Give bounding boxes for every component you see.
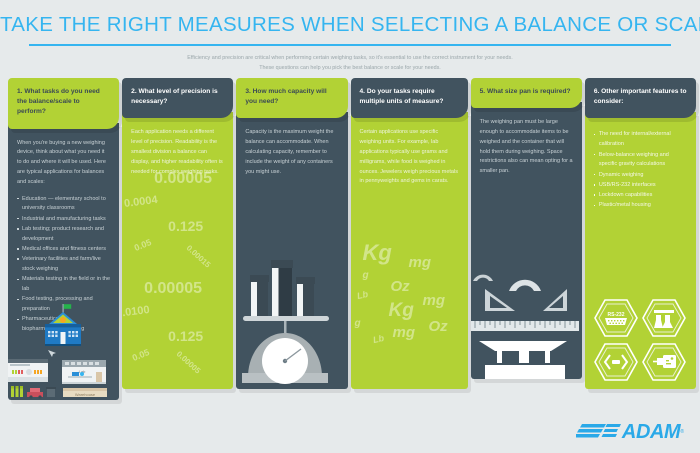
header: TAKE THE RIGHT MEASURES WHEN SELECTING A…	[0, 0, 700, 73]
faded-unit: mg	[409, 254, 432, 271]
faded-unit: Oz	[429, 318, 448, 335]
question-text-6: 6. Other important features to consider:	[594, 87, 687, 107]
column-paragraph-4: Certain applications use specific weighi…	[360, 128, 459, 187]
column-5: 5. What size pan is required? The weighi…	[471, 78, 582, 379]
column-4: 4. Do your tasks require multiple units …	[351, 78, 468, 389]
subtitle: Efficiency and precision are critical wh…	[90, 53, 610, 73]
column-body-4: Kg mg g Oz mg Lb Kg g mg Oz Lb Certain a…	[351, 112, 468, 389]
title-divider	[29, 44, 671, 46]
faded-unit: mg	[393, 324, 416, 341]
faded-number: 0.0004	[124, 194, 159, 210]
column-bullet-list-6: The need for internal/external calibrati…	[594, 130, 687, 211]
platform-scale-illustration	[236, 249, 347, 389]
ae-logo-mark	[576, 421, 622, 443]
question-box-2: 2. What level of precision is necessary?	[122, 78, 233, 118]
registered-trademark: ®	[680, 429, 684, 435]
column-body-5: The weighing pan must be large enough to…	[471, 102, 582, 379]
question-box-6: 6. Other important features to consider:	[585, 78, 696, 118]
rs-232-port-icon: RS-232	[594, 298, 638, 338]
question-box-3: 3. How much capacity will you need?	[236, 78, 347, 118]
question-text-3: 3. How much capacity will you need?	[245, 87, 338, 107]
subtitle-line-2: These questions can help you pick the be…	[90, 63, 610, 73]
page-title: TAKE THE RIGHT MEASURES WHEN SELECTING A…	[0, 13, 700, 37]
list-item: Industrial and manufacturing tasks	[17, 215, 110, 225]
column-paragraph-1: When you're buying a new weighing device…	[17, 139, 110, 188]
column-paragraph-5: The weighing pan must be large enough to…	[480, 118, 573, 177]
column-paragraph-2: Each application needs a different level…	[131, 128, 224, 177]
column-1: 1. What tasks do you need the balance/sc…	[8, 78, 119, 400]
column-body-2: 0.00005 0.0004 0.125 0.05 0.00015 0.0000…	[122, 112, 233, 389]
list-item: Dynamic weighing	[594, 171, 687, 181]
question-text-4: 4. Do your tasks require multiple units …	[360, 87, 459, 107]
rs-232-label: RS-232	[608, 312, 625, 318]
subtitle-line-1: Efficiency and precision are critical wh…	[90, 53, 610, 63]
column-2: 2. What level of precision is necessary?…	[122, 78, 233, 389]
column-body-3: Capacity is the maximum weight the balan…	[236, 112, 347, 389]
faded-unit: Lb	[372, 333, 385, 345]
list-item: USB/RS-232 interfaces	[594, 181, 687, 191]
column-6: 6. Other important features to consider:…	[585, 78, 696, 389]
faded-number: 0.05	[133, 238, 153, 254]
faded-unit: Kg	[363, 240, 392, 266]
list-item: The need for internal/external calibrati…	[594, 130, 687, 150]
faded-unit: g	[355, 318, 361, 329]
list-item: Lab testing; product research and develo…	[17, 225, 110, 245]
faded-number: 0.125	[168, 328, 203, 344]
feature-icons-group: RS-232	[592, 298, 689, 382]
brand-logo: ADAM ®	[576, 421, 684, 443]
faded-number: 0.00015	[185, 244, 213, 270]
faded-number: 0.00005	[144, 280, 202, 298]
column-body-1: When you're buying a new weighing device…	[8, 123, 119, 400]
measuring-tools-illustration	[471, 267, 582, 379]
below-balance-hook-icon	[594, 342, 638, 382]
lab-flasks-icon	[642, 298, 686, 338]
column-3: 3. How much capacity will you need? Capa…	[236, 78, 347, 389]
column-paragraph-3: Capacity is the maximum weight the balan…	[245, 128, 338, 177]
question-box-1: 1. What tasks do you need the balance/sc…	[8, 78, 119, 129]
faded-number: 0.125	[168, 218, 203, 234]
question-text-1: 1. What tasks do you need the balance/sc…	[17, 87, 110, 118]
list-item: Veterinary facilities and farm/live stoc…	[17, 255, 110, 275]
faded-unit: Kg	[389, 300, 414, 322]
list-item: Lockdown capabilities	[594, 191, 687, 201]
list-item: Plastic/metal housing	[594, 201, 687, 211]
list-item: Materials testing in the field or in the…	[17, 275, 110, 295]
question-box-4: 4. Do your tasks require multiple units …	[351, 78, 468, 118]
faded-unit: mg	[423, 292, 446, 309]
faded-number: 0.05	[131, 348, 151, 364]
columns-container: 1. What tasks do you need the balance/sc…	[8, 78, 696, 400]
faded-unit: Oz	[391, 278, 410, 295]
list-item: Below-balance weighing and specific grav…	[594, 151, 687, 171]
question-text-5: 5. What size pan is required?	[480, 87, 573, 97]
faded-number: 0.00005	[175, 350, 203, 376]
column-body-6: The need for internal/external calibrati…	[585, 112, 696, 389]
question-text-2: 2. What level of precision is necessary?	[131, 87, 224, 107]
usb-connector-icon	[642, 342, 686, 382]
svg-text:Warehouse: Warehouse	[75, 392, 96, 397]
infographic-page: TAKE THE RIGHT MEASURES WHEN SELECTING A…	[0, 0, 700, 453]
brand-name: ADAM	[622, 422, 680, 442]
list-item: Education — elementary school to univers…	[17, 195, 110, 215]
faded-number: 0.0100	[122, 304, 150, 320]
list-item: Medical offices and fitness centers	[17, 245, 110, 255]
faded-unit: g	[363, 270, 369, 281]
buildings-illustration: Lab	[8, 302, 119, 400]
question-box-5: 5. What size pan is required?	[471, 78, 582, 108]
faded-unit: Lb	[356, 289, 369, 301]
